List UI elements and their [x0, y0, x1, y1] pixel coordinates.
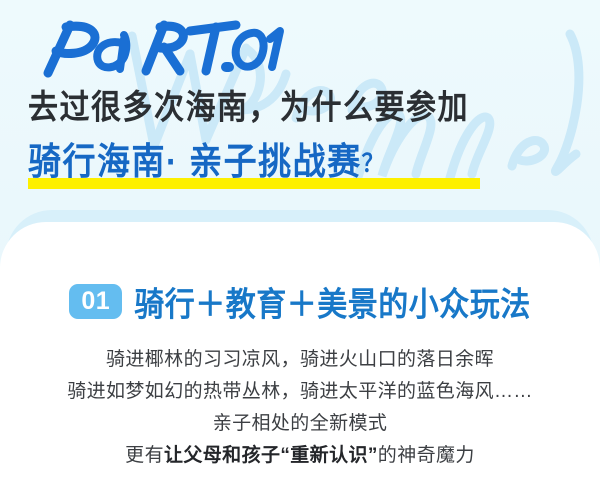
headline-line-1: 去过很多次海南，为什么要参加	[28, 84, 469, 133]
poster-page: PART.01	[0, 0, 600, 501]
section-heading: 01 骑行＋教育＋美景的小众玩法	[0, 279, 600, 323]
headline-line-2: 骑行海南· 亲子挑战赛？	[28, 137, 385, 189]
body-line-4: 更有让父母和孩子“重新认识”的神奇魔力	[0, 440, 600, 472]
part-label: PART.01	[30, 17, 290, 79]
content-card: 01 骑行＋教育＋美景的小众玩法 骑进椰林的习习凉风，骑进火山口的落日余晖 骑进…	[0, 222, 600, 501]
headline-line-2-main: 骑行海南· 亲子挑战赛	[28, 140, 362, 181]
body-line-3: 亲子相处的全新模式	[0, 408, 600, 440]
body-line-4-prefix: 更有	[125, 445, 164, 466]
body-copy: 骑进椰林的习习凉风，骑进火山口的落日余晖 骑进如梦如幻的热带丛林，骑进太平洋的蓝…	[0, 344, 600, 472]
section-number-badge: 01	[69, 284, 122, 319]
headline-question-mark: ？	[362, 149, 386, 177]
body-line-1: 骑进椰林的习习凉风，骑进火山口的落日余晖	[0, 344, 600, 376]
hero-section: PART.01	[0, 0, 600, 222]
headline-line-2-wrapper: 骑行海南· 亲子挑战赛？	[28, 137, 385, 183]
body-line-4-emphasis: 让父母和孩子“重新认识”	[164, 445, 378, 466]
body-line-2: 骑进如梦如幻的热带丛林，骑进太平洋的蓝色海风……	[0, 376, 600, 408]
body-line-4-suffix: 的神奇魔力	[378, 445, 475, 466]
section-title: 骑行＋教育＋美景的小众玩法	[134, 277, 531, 325]
